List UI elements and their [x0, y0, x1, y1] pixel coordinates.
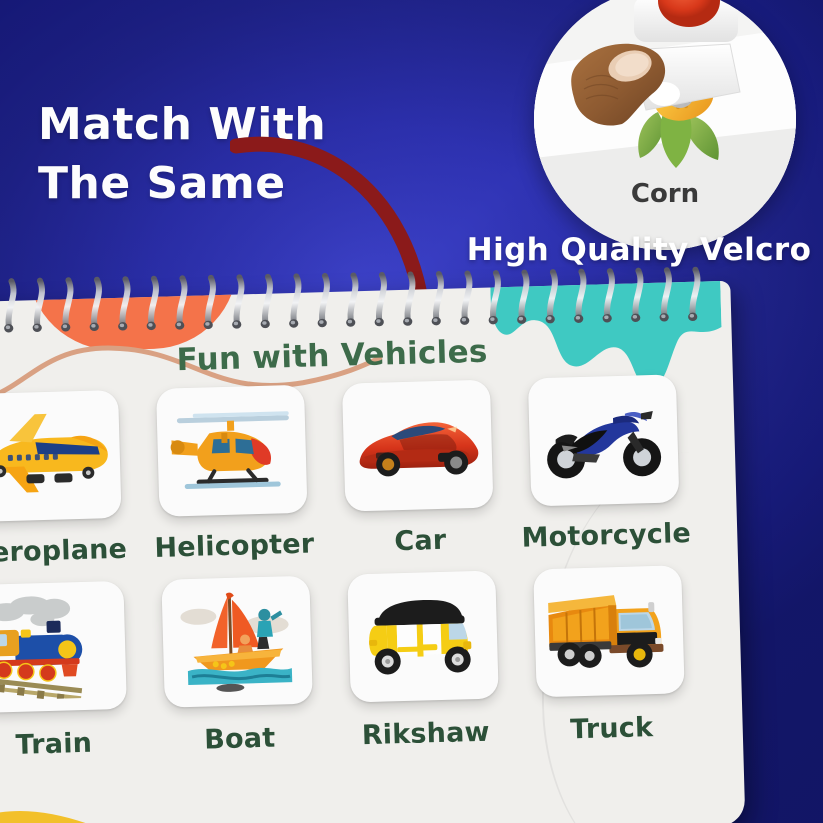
vehicle-cell-truck[interactable]: Truck [518, 565, 701, 747]
vehicle-label-car: Car [394, 525, 447, 557]
car-icon [350, 392, 485, 500]
vehicle-card-truck[interactable] [533, 565, 685, 697]
vehicle-card-car[interactable] [342, 380, 494, 512]
promo-image: Match With The Same [0, 0, 823, 823]
vehicle-card-helicopter[interactable] [156, 385, 308, 517]
train-icon [0, 593, 119, 701]
vehicle-label-motorcycle: Motorcycle [521, 518, 691, 554]
boat-icon [170, 588, 305, 696]
vehicle-cell-boat[interactable]: Boat [146, 575, 329, 757]
vehicle-label-truck: Truck [570, 712, 654, 745]
vehicle-row-1: Aeroplane [0, 373, 716, 569]
helicopter-icon [164, 397, 299, 505]
vehicle-label-train: Train [15, 728, 92, 761]
vehicle-card-motorcycle[interactable] [528, 374, 680, 506]
book-page: Fun with Vehicles [0, 281, 745, 823]
hand-holding-velcro-card-photo: Corn [534, 0, 796, 250]
vehicle-label-rikshaw: Rikshaw [361, 717, 490, 752]
vehicle-label-boat: Boat [204, 723, 276, 756]
vehicle-row-2: Train [0, 564, 721, 762]
velcro-closeup-inset: Corn [534, 0, 796, 250]
vehicle-cell-aeroplane[interactable]: Aeroplane [0, 389, 138, 569]
inset-item-label: Corn [631, 179, 699, 209]
vehicle-cell-car[interactable]: Car [327, 379, 510, 559]
activity-book: Fun with Vehicles [0, 262, 775, 823]
truck-icon [542, 577, 677, 685]
motorcycle-icon [536, 387, 671, 495]
vehicle-card-grid: Aeroplane [0, 373, 722, 778]
vehicle-label-aeroplane: Aeroplane [0, 534, 128, 569]
vehicle-cell-motorcycle[interactable]: Motorcycle [513, 374, 696, 554]
vehicle-cell-train[interactable]: Train [0, 580, 143, 762]
vehicle-cell-rikshaw[interactable]: Rikshaw [332, 570, 515, 752]
vehicle-cell-helicopter[interactable]: Helicopter [141, 384, 324, 564]
velcro-caption: High Quality Velcro [455, 232, 823, 268]
rikshaw-icon [356, 583, 491, 691]
vehicle-card-boat[interactable] [161, 576, 313, 708]
vehicle-card-rikshaw[interactable] [347, 570, 499, 702]
vehicle-card-aeroplane[interactable] [0, 390, 122, 522]
vehicle-card-train[interactable] [0, 581, 127, 713]
aeroplane-icon [0, 402, 113, 510]
vehicle-label-helicopter: Helicopter [154, 528, 315, 563]
